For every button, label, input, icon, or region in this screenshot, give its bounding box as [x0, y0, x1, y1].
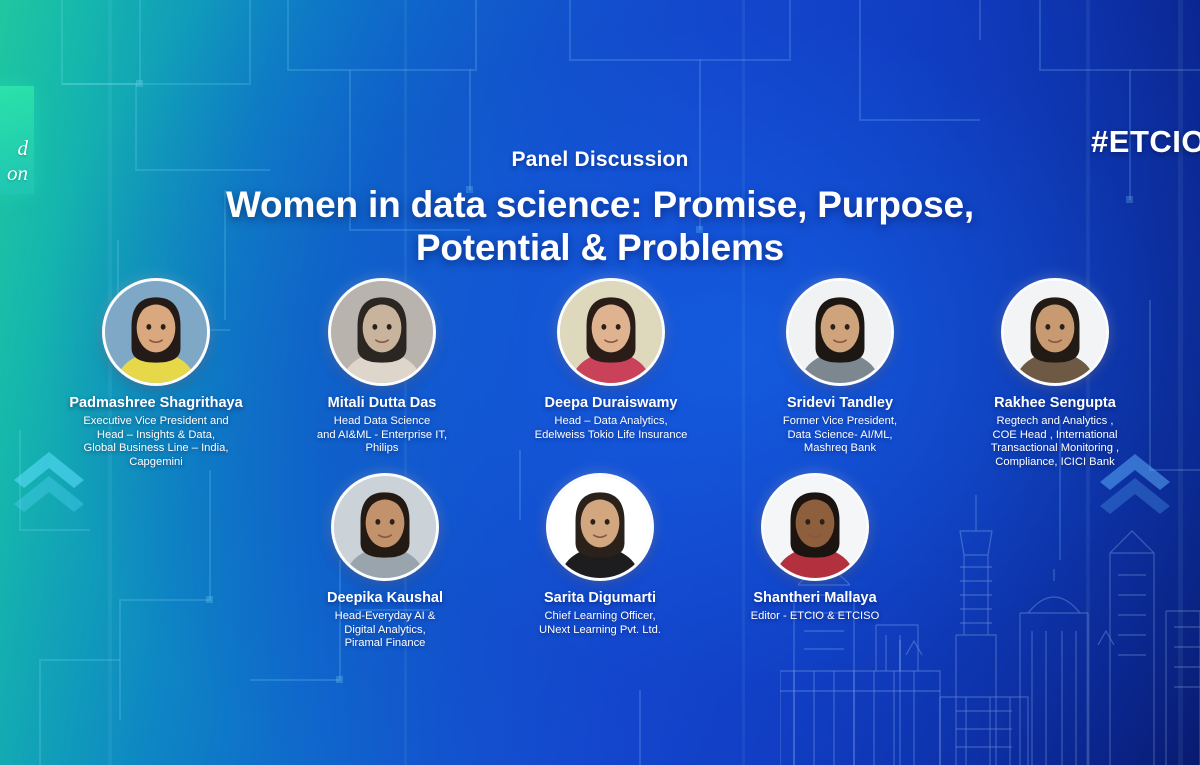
- avatar-sarita-digumarti: [546, 473, 654, 581]
- speaker-title: Regtech and Analytics ,COE Head , Intern…: [991, 415, 1119, 469]
- speaker-title-line: Data Science- AI/ML,: [783, 429, 897, 443]
- speaker-title-line: Edelweiss Tokio Life Insurance: [535, 429, 688, 443]
- speaker-title-line: Former Vice President,: [783, 415, 897, 429]
- speaker-title-line: Compliance, ICICI Bank: [991, 456, 1119, 470]
- speaker-title-line: Mashreq Bank: [783, 442, 897, 456]
- speaker-title: Chief Learning Officer,UNext Learning Pv…: [539, 610, 661, 637]
- speaker-card: Deepa DuraiswamyHead – Data Analytics,Ed…: [503, 278, 719, 469]
- page-title: Women in data science: Promise, Purpose,…: [0, 183, 1200, 269]
- speaker-row-2: Deepika KaushalHead-Everyday AI &Digital…: [0, 473, 1200, 651]
- avatar-rakhee-sengupta: [1001, 278, 1109, 386]
- speaker-title-line: Philips: [317, 442, 447, 456]
- speaker-card: Shantheri MallayaEditor - ETCIO & ETCISO: [721, 473, 909, 651]
- speaker-title-line: Head – Data Analytics,: [535, 415, 688, 429]
- speaker-name: Shantheri Mallaya: [753, 590, 876, 607]
- speaker-card: Sridevi TandleyFormer Vice President,Dat…: [746, 278, 934, 469]
- avatar-sridevi-tandley: [786, 278, 894, 386]
- speaker-card: Mitali Dutta DasHead Data Scienceand AI&…: [288, 278, 476, 469]
- speaker-title: Former Vice President,Data Science- AI/M…: [783, 415, 897, 456]
- page-title-line-1: Women in data science: Promise, Purpose,: [0, 183, 1200, 226]
- speaker-title: Head – Data Analytics,Edelweiss Tokio Li…: [535, 415, 688, 442]
- avatar-mitali-dutta-das: [328, 278, 436, 386]
- speaker-title-line: Executive Vice President and: [83, 415, 228, 429]
- session-type-label: Panel Discussion: [0, 148, 1200, 172]
- speaker-name: Sarita Digumarti: [544, 590, 656, 607]
- speaker-title-line: Head-Everyday AI &: [335, 610, 436, 624]
- speaker-name: Deepika Kaushal: [327, 590, 443, 607]
- speaker-name: Rakhee Sengupta: [994, 395, 1116, 412]
- speaker-title-line: Global Business Line – India,: [83, 442, 228, 456]
- avatar-deepika-kaushal: [331, 473, 439, 581]
- speaker-title-line: Head Data Science: [317, 415, 447, 429]
- speaker-title: Editor - ETCIO & ETCISO: [751, 610, 880, 624]
- speaker-title-line: Chief Learning Officer,: [539, 610, 661, 624]
- speaker-name: Sridevi Tandley: [787, 395, 893, 412]
- speaker-title-line: Head – Insights & Data,: [83, 429, 228, 443]
- presentation-slide: d on: [0, 0, 1200, 765]
- speaker-title-line: Digital Analytics,: [335, 624, 436, 638]
- speaker-title-line: Editor - ETCIO & ETCISO: [751, 610, 880, 624]
- page-title-line-2: Potential & Problems: [0, 226, 1200, 269]
- speaker-card: Sarita DigumartiChief Learning Officer,U…: [506, 473, 694, 651]
- speaker-title-line: UNext Learning Pvt. Ltd.: [539, 624, 661, 638]
- speaker-name: Mitali Dutta Das: [328, 395, 437, 412]
- speaker-title-line: and AI&ML - Enterprise IT,: [317, 429, 447, 443]
- speaker-card: Rakhee SenguptaRegtech and Analytics ,CO…: [961, 278, 1149, 469]
- speaker-title-line: Piramal Finance: [335, 637, 436, 651]
- speaker-title-line: Regtech and Analytics ,: [991, 415, 1119, 429]
- avatar-deepa-duraiswamy: [557, 278, 665, 386]
- speaker-title: Head-Everyday AI &Digital Analytics,Pira…: [335, 610, 436, 651]
- speaker-title: Head Data Scienceand AI&ML - Enterprise …: [317, 415, 447, 456]
- speaker-name: Padmashree Shagrithaya: [69, 395, 242, 412]
- speaker-title-line: Capgemini: [83, 456, 228, 470]
- speaker-card: Padmashree ShagrithayaExecutive Vice Pre…: [51, 278, 261, 469]
- avatar-shantheri-mallaya: [761, 473, 869, 581]
- speaker-title: Executive Vice President andHead – Insig…: [83, 415, 228, 469]
- speaker-name: Deepa Duraiswamy: [545, 395, 678, 412]
- avatar-padmashree-shagrithaya: [102, 278, 210, 386]
- speaker-card: Deepika KaushalHead-Everyday AI &Digital…: [291, 473, 479, 651]
- speaker-row-1: Padmashree ShagrithayaExecutive Vice Pre…: [0, 278, 1200, 469]
- speaker-title-line: COE Head , International: [991, 429, 1119, 443]
- speaker-title-line: Transactional Monitoring ,: [991, 442, 1119, 456]
- slide-header: Panel Discussion Women in data science: …: [0, 148, 1200, 269]
